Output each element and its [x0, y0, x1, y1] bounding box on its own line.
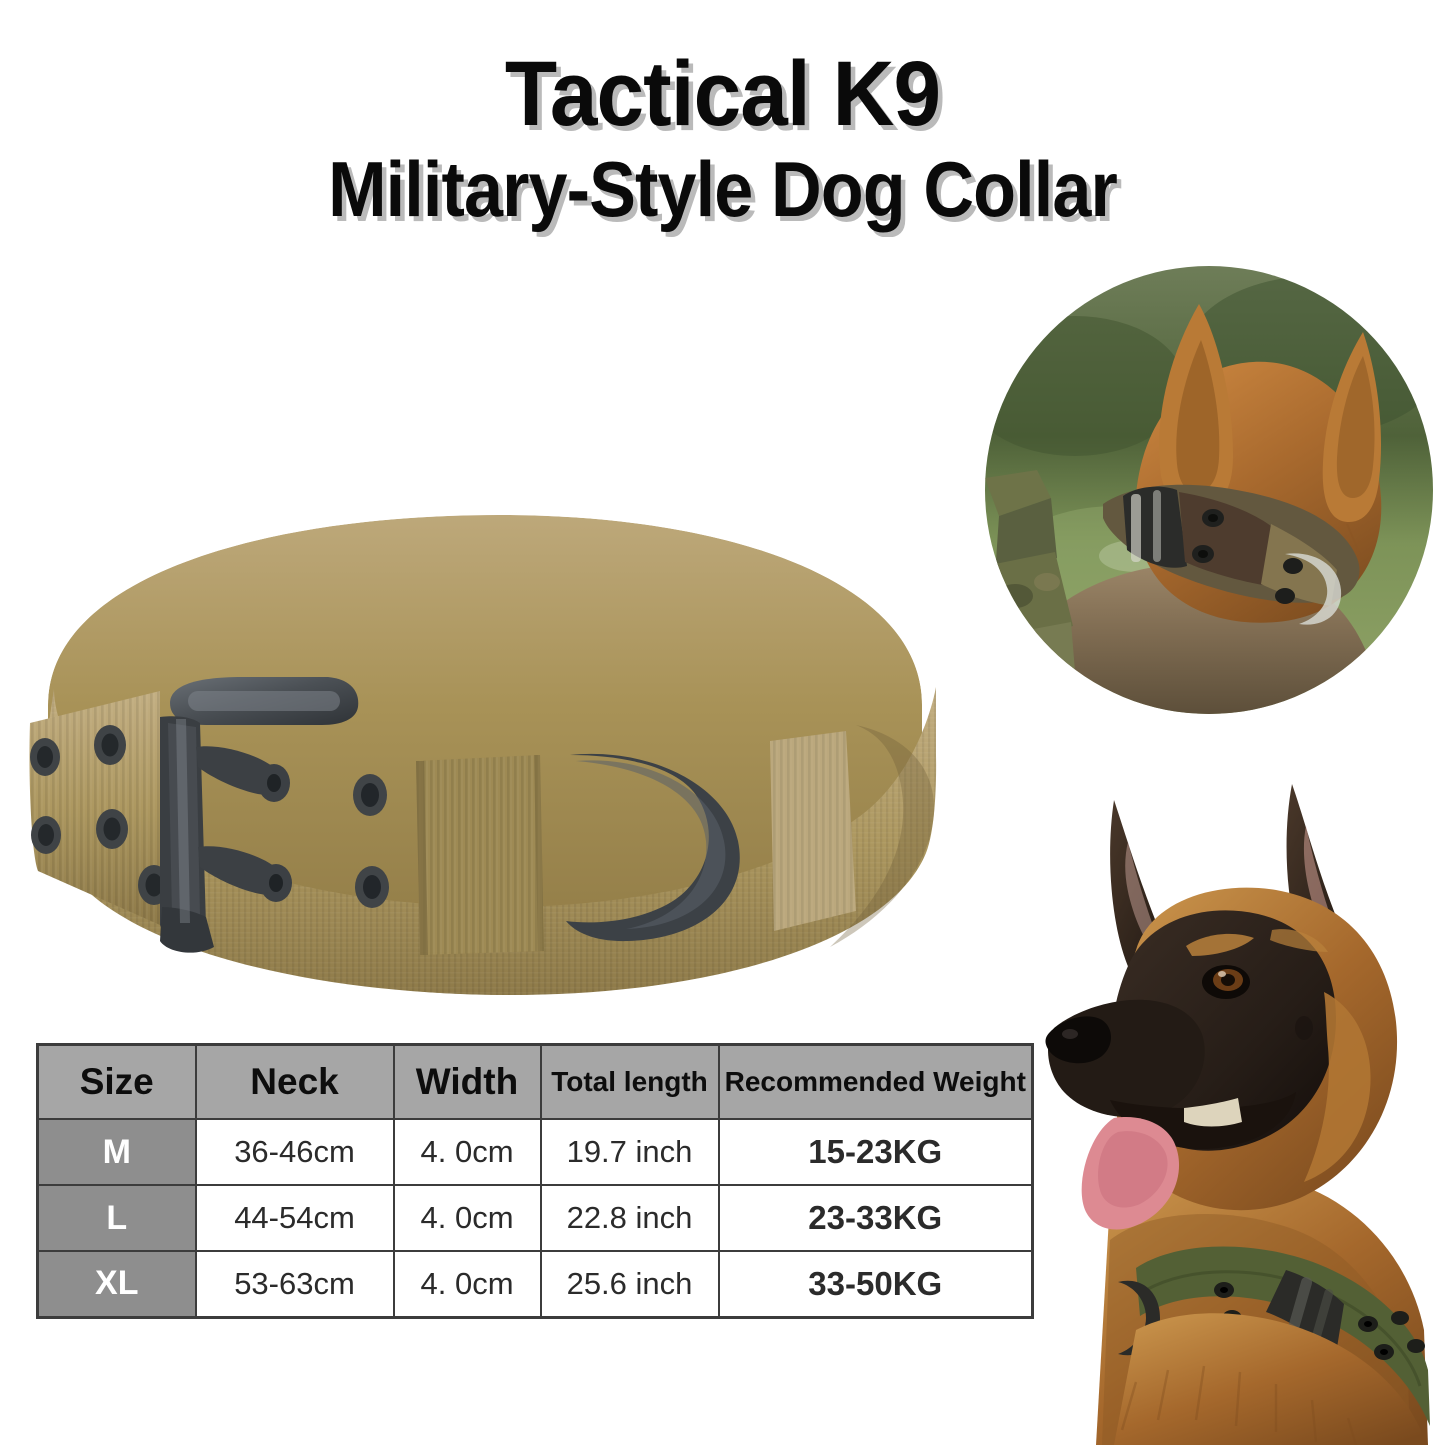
page-title: Tactical K9 Military-Style Dog Collar	[0, 48, 1445, 228]
belgian-malinois-photo	[1018, 770, 1445, 1445]
cell-width: 4. 0cm	[394, 1119, 541, 1185]
cell-total-length: 25.6 inch	[541, 1251, 719, 1317]
column-header-total-length: Total length	[541, 1045, 719, 1120]
size-chart: Size Neck Width Total length Recommended…	[36, 1043, 1031, 1319]
cell-size: M	[38, 1119, 196, 1185]
title-line-1: Tactical K9	[51, 48, 1395, 140]
collar-keeper-loop	[416, 755, 544, 955]
circle-photo-illustration	[985, 266, 1433, 714]
cell-total-length: 22.8 inch	[541, 1185, 719, 1251]
column-header-width: Width	[394, 1045, 541, 1120]
column-header-recommended-weight: Recommended Weight	[719, 1045, 1033, 1120]
size-specification-table: Size Neck Width Total length Recommended…	[36, 1043, 1034, 1319]
malinois-cheek-spot	[1295, 1016, 1313, 1040]
tactical-dog-collar-product-photo	[10, 455, 970, 1000]
table-row: L 44-54cm 4. 0cm 22.8 inch 23-33KG	[38, 1185, 1033, 1251]
collar-right-keeper-texture	[770, 731, 856, 931]
cell-recommended-weight: 33-50KG	[719, 1251, 1033, 1317]
cell-recommended-weight: 15-23KG	[719, 1119, 1033, 1185]
table-header-row: Size Neck Width Total length Recommended…	[38, 1045, 1033, 1120]
cell-neck: 36-46cm	[196, 1119, 394, 1185]
cell-width: 4. 0cm	[394, 1251, 541, 1317]
malinois-illustration	[1018, 770, 1445, 1445]
grommet-hole	[94, 725, 126, 765]
collar-illustration	[10, 455, 970, 1000]
cell-total-length: 19.7 inch	[541, 1119, 719, 1185]
cell-neck: 44-54cm	[196, 1185, 394, 1251]
grommet-hole	[96, 809, 128, 849]
grommet-hole	[31, 816, 61, 854]
title-line-2: Military-Style Dog Collar	[72, 150, 1373, 228]
grommet-hole	[353, 774, 387, 816]
cell-size: XL	[38, 1251, 196, 1317]
table-row: XL 53-63cm 4. 0cm 25.6 inch 33-50KG	[38, 1251, 1033, 1317]
malinois-eye-glint	[1218, 971, 1226, 977]
product-listing-page: Tactical K9 Military-Style Dog Collar	[0, 0, 1445, 1445]
cell-size: L	[38, 1185, 196, 1251]
cell-width: 4. 0cm	[394, 1185, 541, 1251]
grommet-hole	[30, 738, 60, 776]
column-header-size: Size	[38, 1045, 196, 1120]
column-header-neck: Neck	[196, 1045, 394, 1120]
grommet-hole	[355, 866, 389, 908]
cell-recommended-weight: 23-33KG	[719, 1185, 1033, 1251]
malinois-nose-highlight	[1062, 1029, 1078, 1039]
cell-neck: 53-63cm	[196, 1251, 394, 1317]
table-row: M 36-46cm 4. 0cm 19.7 inch 15-23KG	[38, 1119, 1033, 1185]
dog-wearing-collar-circle-photo	[985, 266, 1433, 714]
